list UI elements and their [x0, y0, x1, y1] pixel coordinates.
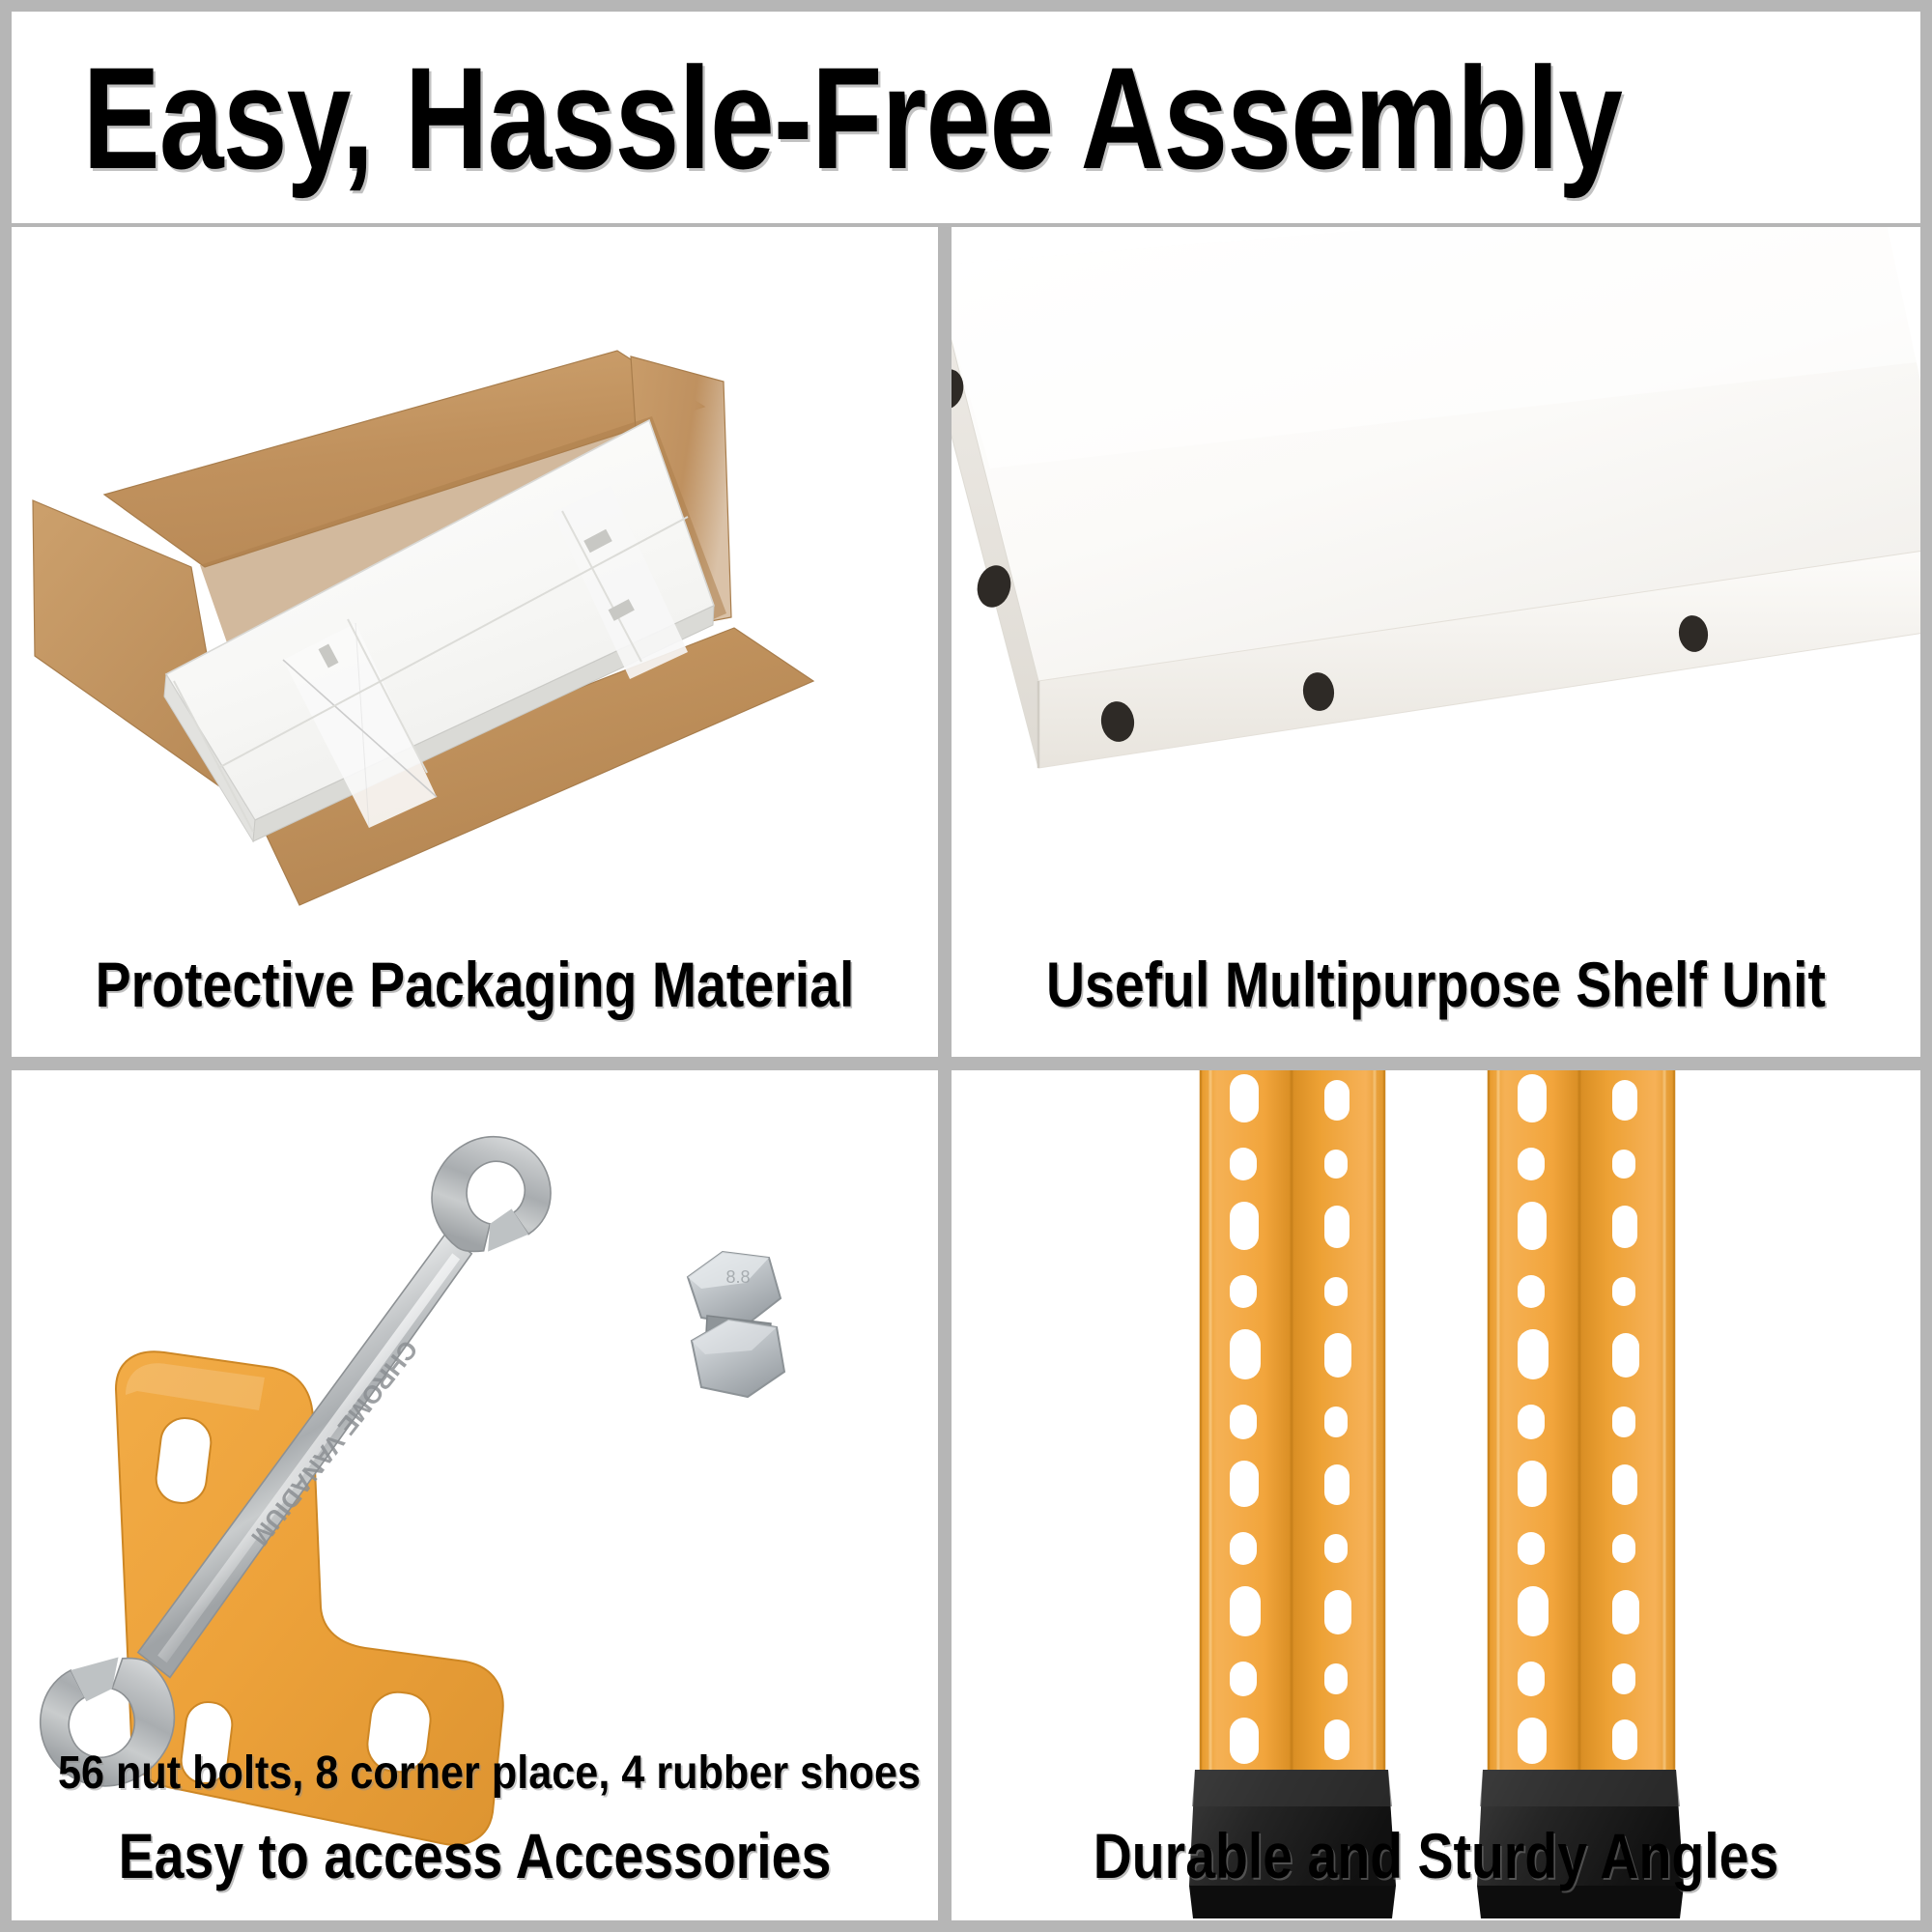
- panel-caption-accessories: Easy to access Accessories: [86, 1824, 865, 1888]
- panel-protective-packaging: Protective Packaging Material: [12, 227, 938, 1057]
- accessories-parts-list: 56 nut bolts, 8 corner place, 4 rubber s…: [58, 1750, 892, 1797]
- angle-post-1: [1189, 1070, 1396, 1918]
- shelf-board-illustration: [952, 227, 1920, 1057]
- panel-caption-shelf-unit: Useful Multipurpose Shelf Unit: [1029, 952, 1843, 1016]
- infographic-root: Easy, Hassle-Free Assembly: [0, 0, 1932, 1932]
- panel-caption-protective-packaging: Protective Packaging Material: [86, 952, 865, 1016]
- slotted-angle-posts-illustration: [952, 1070, 1920, 1920]
- svg-text:8.8: 8.8: [725, 1267, 750, 1287]
- header-banner: Easy, Hassle-Free Assembly: [12, 12, 1920, 223]
- angle-post-2: [1477, 1070, 1684, 1918]
- vertical-divider: [938, 227, 952, 1920]
- cardboard-box-illustration: [12, 227, 938, 1057]
- horizontal-divider: [12, 1057, 1920, 1070]
- page-title: Easy, Hassle-Free Assembly: [12, 45, 1622, 190]
- panel-grid: Protective Packaging Material: [12, 227, 1920, 1920]
- panel-angles: Durable and Sturdy Angles: [952, 1070, 1920, 1920]
- panel-accessories: CHROME VANADIUM 8.8: [12, 1070, 938, 1920]
- panel-caption-angles: Durable and Sturdy Angles: [1029, 1824, 1843, 1888]
- panel-shelf-unit: Useful Multipurpose Shelf Unit: [952, 227, 1920, 1057]
